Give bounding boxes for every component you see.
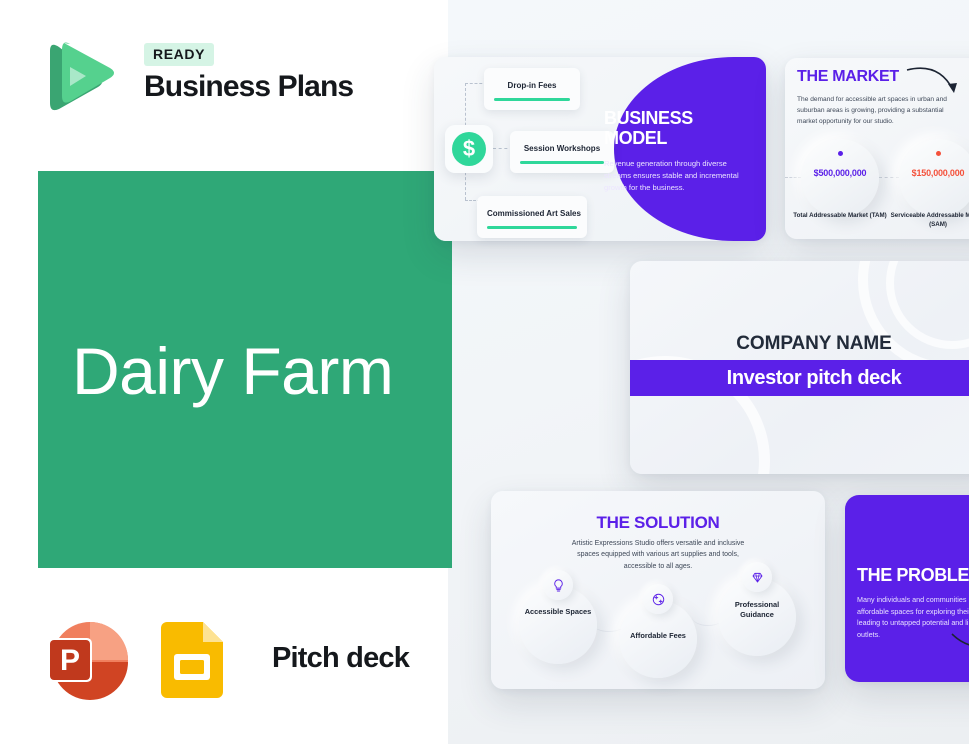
brand-text-block: READY Business Plans bbox=[144, 43, 353, 104]
chip-underline bbox=[520, 161, 604, 164]
market-dash-mid bbox=[879, 177, 899, 178]
market-metric-circle bbox=[899, 139, 969, 217]
svg-text:P: P bbox=[60, 644, 80, 677]
powerpoint-icon: P bbox=[44, 618, 128, 702]
business-model-title-line2: MODEL bbox=[604, 128, 734, 148]
business-model-title: BUSINESS MODEL bbox=[604, 108, 734, 148]
market-dash-left bbox=[785, 177, 801, 178]
page-title: Dairy Farm bbox=[72, 338, 393, 404]
google-slides-icon bbox=[161, 622, 223, 698]
chip-underline bbox=[487, 226, 577, 229]
dollar-coin-icon: $ bbox=[452, 132, 486, 166]
swoosh-icon bbox=[950, 630, 969, 656]
play-triangle-logo-icon bbox=[40, 37, 118, 117]
chip-underline bbox=[494, 98, 570, 101]
revenue-chip[interactable]: Session Workshops bbox=[510, 131, 614, 173]
curved-arrow-icon bbox=[905, 62, 967, 104]
revenue-chip[interactable]: Drop-in Fees bbox=[484, 68, 580, 110]
solution-pillar-label: Professional Guidance bbox=[718, 600, 796, 621]
coin-circle-icon bbox=[643, 584, 673, 614]
company-subtitle: Investor pitch deck bbox=[630, 367, 969, 390]
solution-pillar-label: Accessible Spaces bbox=[519, 607, 597, 617]
solution-title: THE SOLUTION bbox=[491, 513, 825, 533]
market-dot-icon bbox=[838, 151, 843, 156]
market-metric-caption: Total Addressable Market (TAM) bbox=[789, 212, 891, 221]
solution-body: Artistic Expressions Studio offers versa… bbox=[561, 538, 755, 572]
lightbulb-icon bbox=[543, 570, 573, 600]
filetype-label: Pitch deck bbox=[272, 642, 409, 675]
preview-canvas: READY Business Plans Dairy Farm $ Drop-i… bbox=[0, 0, 969, 744]
company-name-title: COMPANY NAME bbox=[630, 333, 969, 355]
market-title: THE MARKET bbox=[797, 68, 899, 86]
revenue-chip-label: Drop-in Fees bbox=[508, 81, 557, 90]
ready-badge: READY bbox=[144, 43, 214, 66]
revenue-chip-label: Session Workshops bbox=[524, 144, 600, 153]
problem-title: THE PROBLEM bbox=[857, 565, 969, 586]
business-model-body: Revenue generation through diverse strea… bbox=[604, 158, 744, 193]
revenue-chip[interactable]: Commissioned Art Sales bbox=[477, 196, 587, 238]
market-metric-value: $150,000,000 bbox=[899, 168, 969, 178]
business-model-title-line1: BUSINESS bbox=[604, 108, 734, 128]
revenue-chip-label: Commissioned Art Sales bbox=[487, 209, 581, 218]
solution-pillar-label: Affordable Fees bbox=[619, 631, 697, 641]
diamond-icon bbox=[742, 562, 772, 592]
market-dot-icon bbox=[936, 151, 941, 156]
market-metric-caption: Serviceable Addressable Market (SAM) bbox=[887, 212, 969, 230]
brand-name: Business Plans bbox=[144, 70, 353, 104]
market-metric-value: $500,000,000 bbox=[801, 168, 879, 178]
brand-lockup: READY Business Plans bbox=[40, 35, 370, 121]
